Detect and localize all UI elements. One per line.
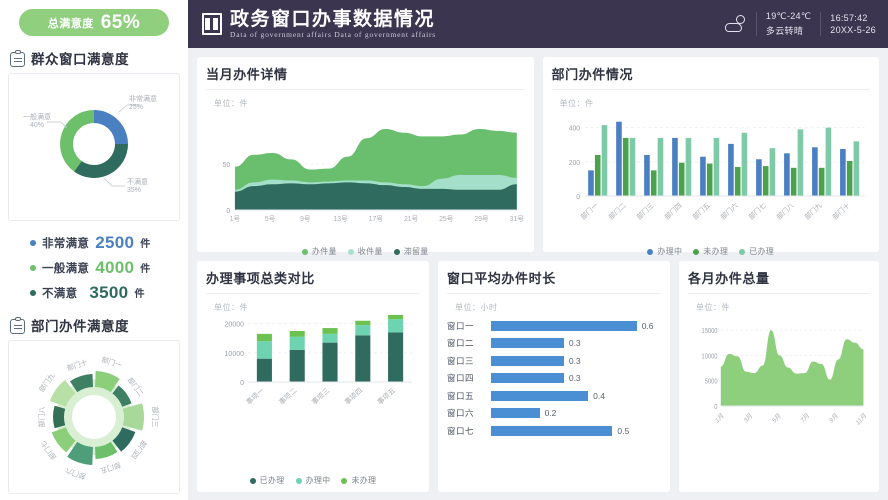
svg-text:部门一: 部门一 [100,355,123,370]
legend-item: 非常满意 2500 件 [8,230,180,255]
legend-dot-icon [250,478,256,484]
legend-item[interactable]: 未办理 [693,246,728,257]
svg-text:25号: 25号 [439,215,453,223]
legend-item[interactable]: 办理中 [296,475,331,486]
legend-unit: 件 [140,235,150,250]
section-header-public-satisfaction: 群众窗口满意度 [10,48,182,68]
legend-name: 一般满意 [42,260,89,276]
legend-dot-icon [30,265,36,271]
bar-value: 0.3 [569,373,581,383]
svg-text:事项三: 事项三 [310,386,332,407]
window-horizontal-bars: 窗口一0.6窗口二0.3窗口三0.3窗口四0.3窗口五0.4窗口六0.2窗口七0… [447,318,661,438]
svg-text:5000: 5000 [705,378,718,386]
svg-text:部门三: 部门三 [634,201,655,222]
legend-label: 未办理 [351,475,376,486]
chart-area: 单位：件 0501号5号9号13号17号21号25号29号31号 [206,92,525,244]
legend-label: 滞留量 [404,246,429,257]
clipboard-icon [10,317,25,334]
bar-track: 0.3 [491,356,661,366]
card-title: 各月办件总量 [688,268,870,294]
dashboard: 总满意度 65% 群众窗口满意度 非常满意25% [0,0,888,500]
svg-text:29号: 29号 [474,215,488,223]
temperature: 19℃-24℃ [766,11,811,22]
monthly-detail-area-chart: 0501号5号9号13号17号21号25号29号31号 [206,92,525,244]
legend-dot-icon [693,249,699,255]
unit-label: 单位：小时 [455,302,498,313]
weather-info: 19℃-24℃ 多云转晴 [766,11,811,37]
divider [820,12,821,36]
unit-label: 单位：件 [560,98,594,109]
svg-text:事项二: 事项二 [277,386,299,407]
chart-area: 单位：件 0200400部门一部门二部门三部门四部门五部门六部门七部门八部门九部… [552,92,871,244]
legend-item[interactable]: 滞留量 [394,246,429,257]
chart-area: 单位：件 0500010000150001月3月5月7月9月11月 [688,296,870,486]
card-title: 部门办件情况 [552,64,871,90]
svg-text:17号: 17号 [369,215,383,223]
legend-label: 未办理 [703,246,728,257]
card-window-duration: 窗口平均办件时长 单位：小时 窗口一0.6窗口二0.3窗口三0.3窗口四0.3窗… [438,261,670,492]
legend-label: 办理中 [306,475,331,486]
bar-track: 0.2 [491,408,661,418]
legend-name: 不满意 [42,285,77,301]
legend-value: 4000 [95,258,134,278]
section-title: 群众窗口满意度 [31,48,129,68]
svg-text:部门六: 部门六 [64,466,87,481]
legend-item[interactable]: 办理中 [647,246,682,257]
window-bar-row: 窗口四0.3 [447,371,661,386]
card-title: 办理事项总类对比 [206,268,420,294]
legend-dot-icon [341,478,347,484]
chart-area: 单位：件 01000020000事项一事项二事项三事项四事项五 [206,296,420,473]
bar-track: 0.4 [491,391,661,401]
window-label: 窗口七 [447,425,491,437]
svg-text:部门二: 部门二 [606,201,627,222]
svg-text:部门五: 部门五 [690,201,711,222]
card-monthly-detail: 当月办件详情 单位：件 0501号5号9号13号17号21号25号29号31号 … [197,57,534,252]
svg-text:40%: 40% [30,122,44,129]
bar-fill [491,356,564,366]
legend-dot-icon [302,249,308,255]
bar-value: 0.5 [617,426,629,436]
monthly-total-area-chart: 0500010000150001月3月5月7月9月11月 [688,296,870,444]
svg-text:部门四: 部门四 [129,439,149,461]
legend-unit: 件 [140,260,150,275]
main-area: 政务窗口办事数据情况 Data of government affairs Da… [188,0,888,500]
svg-text:部门四: 部门四 [662,201,683,222]
window-bar-row: 窗口一0.6 [447,318,661,333]
svg-text:400: 400 [568,126,579,133]
svg-text:部门十: 部门十 [830,201,851,222]
svg-text:10000: 10000 [702,353,718,361]
legend-item[interactable]: 已办理 [250,475,285,486]
window-label: 窗口四 [447,372,491,384]
svg-text:部门三: 部门三 [151,407,160,428]
bar-value: 0.3 [569,338,581,348]
bar-value: 0.3 [569,356,581,366]
svg-text:0: 0 [226,208,230,215]
svg-text:31号: 31号 [510,215,524,223]
clock-info: 16:57:42 20XX-5-26 [830,13,876,35]
svg-text:1月: 1月 [714,411,725,425]
legend-unit: 件 [134,285,144,300]
svg-text:25%: 25% [129,104,143,111]
chart-legend: 办理中 未办理 已办理 [552,244,871,257]
sidebar: 总满意度 65% 群众窗口满意度 非常满意25% [0,0,188,500]
unit-label: 单位：件 [214,98,248,109]
legend-dot-icon [30,240,36,246]
legend-value: 3500 [89,283,128,303]
legend-label: 收件量 [358,246,383,257]
svg-text:1号: 1号 [230,215,241,223]
bar-fill [491,373,564,383]
svg-text:3月: 3月 [742,411,753,425]
page-subtitle: Data of government affairs Data of gover… [230,30,436,39]
bar-fill [491,338,564,348]
legend-item: 不满意 3500 件 [8,280,180,305]
svg-text:0: 0 [240,380,244,387]
legend-item[interactable]: 办件量 [302,246,337,257]
svg-text:5号: 5号 [265,215,276,223]
bar-fill [491,426,612,436]
window-bar-row: 窗口三0.3 [447,353,661,368]
svg-text:部门五: 部门五 [99,460,122,475]
dept-rose-panel: 部门一部门二部门三部门四部门五部门六部门七部门八部门九部门十 [8,340,180,494]
svg-text:事项一: 事项一 [244,386,266,407]
bar-value: 0.6 [642,321,654,331]
badge-value: 65% [101,12,141,34]
svg-text:21号: 21号 [404,215,418,223]
svg-text:9月: 9月 [828,411,839,425]
dept-grouped-bar-chart: 0200400部门一部门二部门三部门四部门五部门六部门七部门八部门九部门十 [552,92,871,244]
legend-item[interactable]: 未办理 [341,475,376,486]
svg-text:0: 0 [576,194,580,201]
chart-area: 单位：小时 窗口一0.6窗口二0.3窗口三0.3窗口四0.3窗口五0.4窗口六0… [447,296,661,486]
svg-text:部门八: 部门八 [37,407,46,428]
window-label: 窗口一 [447,320,491,332]
svg-text:50: 50 [223,162,231,169]
current-time: 16:57:42 [830,13,876,23]
window-label: 窗口五 [447,390,491,402]
svg-text:部门九: 部门九 [37,371,57,393]
bar-value: 0.2 [545,408,557,418]
svg-text:一般满意: 一般满意 [23,112,51,121]
legend-dot-icon [348,249,354,255]
window-label: 窗口六 [447,407,491,419]
row-bottom: 办理事项总类对比 单位：件 01000020000事项一事项二事项三事项四事项五… [197,261,879,492]
satisfaction-donut-chart: 非常满意25% 一般满意40% 不满意35% [9,78,179,220]
unit-label: 单位：件 [696,302,730,313]
unit-label: 单位：件 [214,302,248,313]
legend-name: 非常满意 [42,235,89,251]
bar-track: 0.5 [491,426,661,436]
svg-text:事项五: 事项五 [375,386,397,407]
row-top: 当月办件详情 单位：件 0501号5号9号13号17号21号25号29号31号 … [197,57,879,252]
bar-track: 0.6 [491,321,661,331]
legend-dot-icon [394,249,400,255]
svg-text:10000: 10000 [225,351,245,358]
card-monthly-total: 各月办件总量 单位：件 0500010000150001月3月5月7月9月11月 [679,261,879,492]
svg-text:35%: 35% [127,187,141,194]
legend-dot-icon [647,249,653,255]
divider [756,12,757,36]
svg-text:不满意: 不满意 [127,177,148,186]
legend-dot-icon [296,478,302,484]
condition: 多云转晴 [766,24,811,37]
badge-label: 总满意度 [48,15,94,31]
top-bar: 政务窗口办事数据情况 Data of government affairs Da… [188,0,888,48]
svg-text:部门十: 部门十 [66,358,89,373]
svg-text:200: 200 [568,160,579,167]
bar-fill [491,321,637,331]
svg-text:9号: 9号 [300,215,311,223]
window-label: 窗口二 [447,337,491,349]
svg-text:20000: 20000 [225,322,245,329]
svg-text:13号: 13号 [334,215,348,223]
svg-text:0: 0 [714,404,718,412]
status-cluster: 19℃-24℃ 多云转晴 16:57:42 20XX-5-26 [725,11,876,37]
window-bar-row: 窗口五0.4 [447,388,661,403]
chart-legend: 办件量 收件量 滞留量 [206,244,525,257]
window-label: 窗口三 [447,355,491,367]
card-dept-status: 部门办件情况 单位：件 0200400部门一部门二部门三部门四部门五部门六部门七… [543,57,880,252]
current-date: 20XX-5-26 [830,25,876,35]
card-title: 窗口平均办件时长 [447,268,661,294]
svg-text:11月: 11月 [854,411,867,427]
chart-legend: 已办理 办理中 未办理 [206,473,420,486]
card-title: 当月办件详情 [206,64,525,90]
svg-text:7月: 7月 [799,411,810,425]
legend-label: 已办理 [749,246,774,257]
section-title: 部门办件满意度 [31,315,129,335]
page-title: 政务窗口办事数据情况 [230,9,436,30]
bar-fill [491,408,540,418]
bar-track: 0.3 [491,373,661,383]
bar-value: 0.4 [593,391,605,401]
legend-label: 已办理 [260,475,285,486]
dept-satisfaction-rose-chart: 部门一部门二部门三部门四部门五部门六部门七部门八部门九部门十 [9,341,179,493]
bar-fill [491,391,588,401]
legend-dot-icon [30,290,36,296]
bar-track: 0.3 [491,338,661,348]
svg-text:部门七: 部门七 [38,439,58,461]
gate-mark-icon [202,13,222,35]
satisfaction-donut-panel: 非常满意25% 一般满意40% 不满意35% [8,73,180,221]
svg-text:15000: 15000 [702,328,718,336]
legend-item[interactable]: 收件量 [348,246,383,257]
svg-text:部门一: 部门一 [578,201,599,222]
svg-text:5月: 5月 [771,411,782,425]
svg-text:部门六: 部门六 [718,201,739,222]
satisfaction-legend: 非常满意 2500 件 一般满意 4000 件 不满意 3500 件 [8,230,180,305]
legend-value: 2500 [95,233,134,253]
window-bar-row: 窗口七0.5 [447,423,661,438]
svg-text:事项四: 事项四 [343,386,365,407]
sun-cloud-icon [725,15,747,33]
legend-label: 办件量 [312,246,337,257]
card-type-compare: 办理事项总类对比 单位：件 01000020000事项一事项二事项三事项四事项五… [197,261,429,492]
window-bar-row: 窗口二0.3 [447,336,661,351]
legend-dot-icon [739,249,745,255]
svg-text:部门七: 部门七 [746,201,767,222]
clipboard-icon [10,50,25,67]
svg-text:部门二: 部门二 [126,376,146,398]
legend-item[interactable]: 已办理 [739,246,774,257]
type-stacked-bar-chart: 01000020000事项一事项二事项三事项四事项五 [206,296,420,418]
svg-text:非常满意: 非常满意 [129,94,157,103]
total-satisfaction-badge: 总满意度 65% [19,9,169,36]
legend-item: 一般满意 4000 件 [8,255,180,280]
svg-text:部门八: 部门八 [774,201,795,222]
window-bar-row: 窗口六0.2 [447,406,661,421]
dashboard-content: 当月办件详情 单位：件 0501号5号9号13号17号21号25号29号31号 … [188,48,888,500]
legend-label: 办理中 [657,246,682,257]
svg-text:部门九: 部门九 [802,201,823,222]
section-header-dept-satisfaction: 部门办件满意度 [10,315,182,335]
